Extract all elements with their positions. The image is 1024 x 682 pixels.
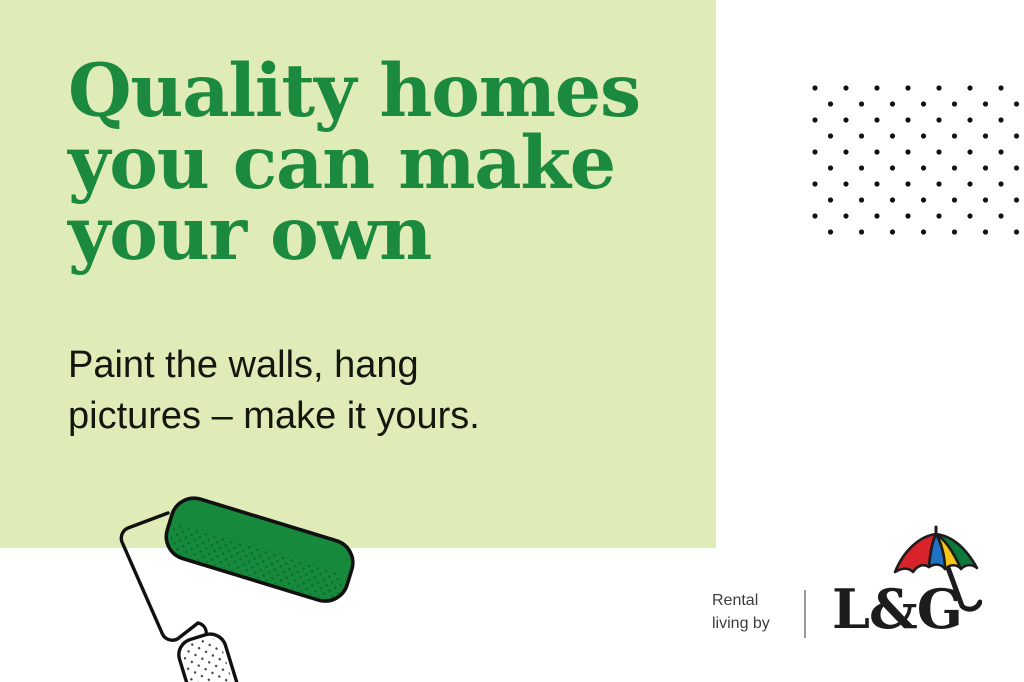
lg-wordmark: L&G (832, 582, 962, 636)
logo-lockup: Rental living by L&G (712, 520, 982, 650)
vertical-divider (804, 590, 806, 638)
page-title: Quality homes you can make your own (68, 56, 688, 271)
paint-roller-illustration (110, 495, 380, 682)
hero-subheading: Paint the walls, hang pictures – make it… (68, 340, 628, 441)
advertisement-canvas: Quality homes you can make your own Pain… (0, 0, 1024, 682)
logo-tagline: Rental living by (712, 590, 770, 635)
dot-grid-pattern (812, 85, 1024, 243)
